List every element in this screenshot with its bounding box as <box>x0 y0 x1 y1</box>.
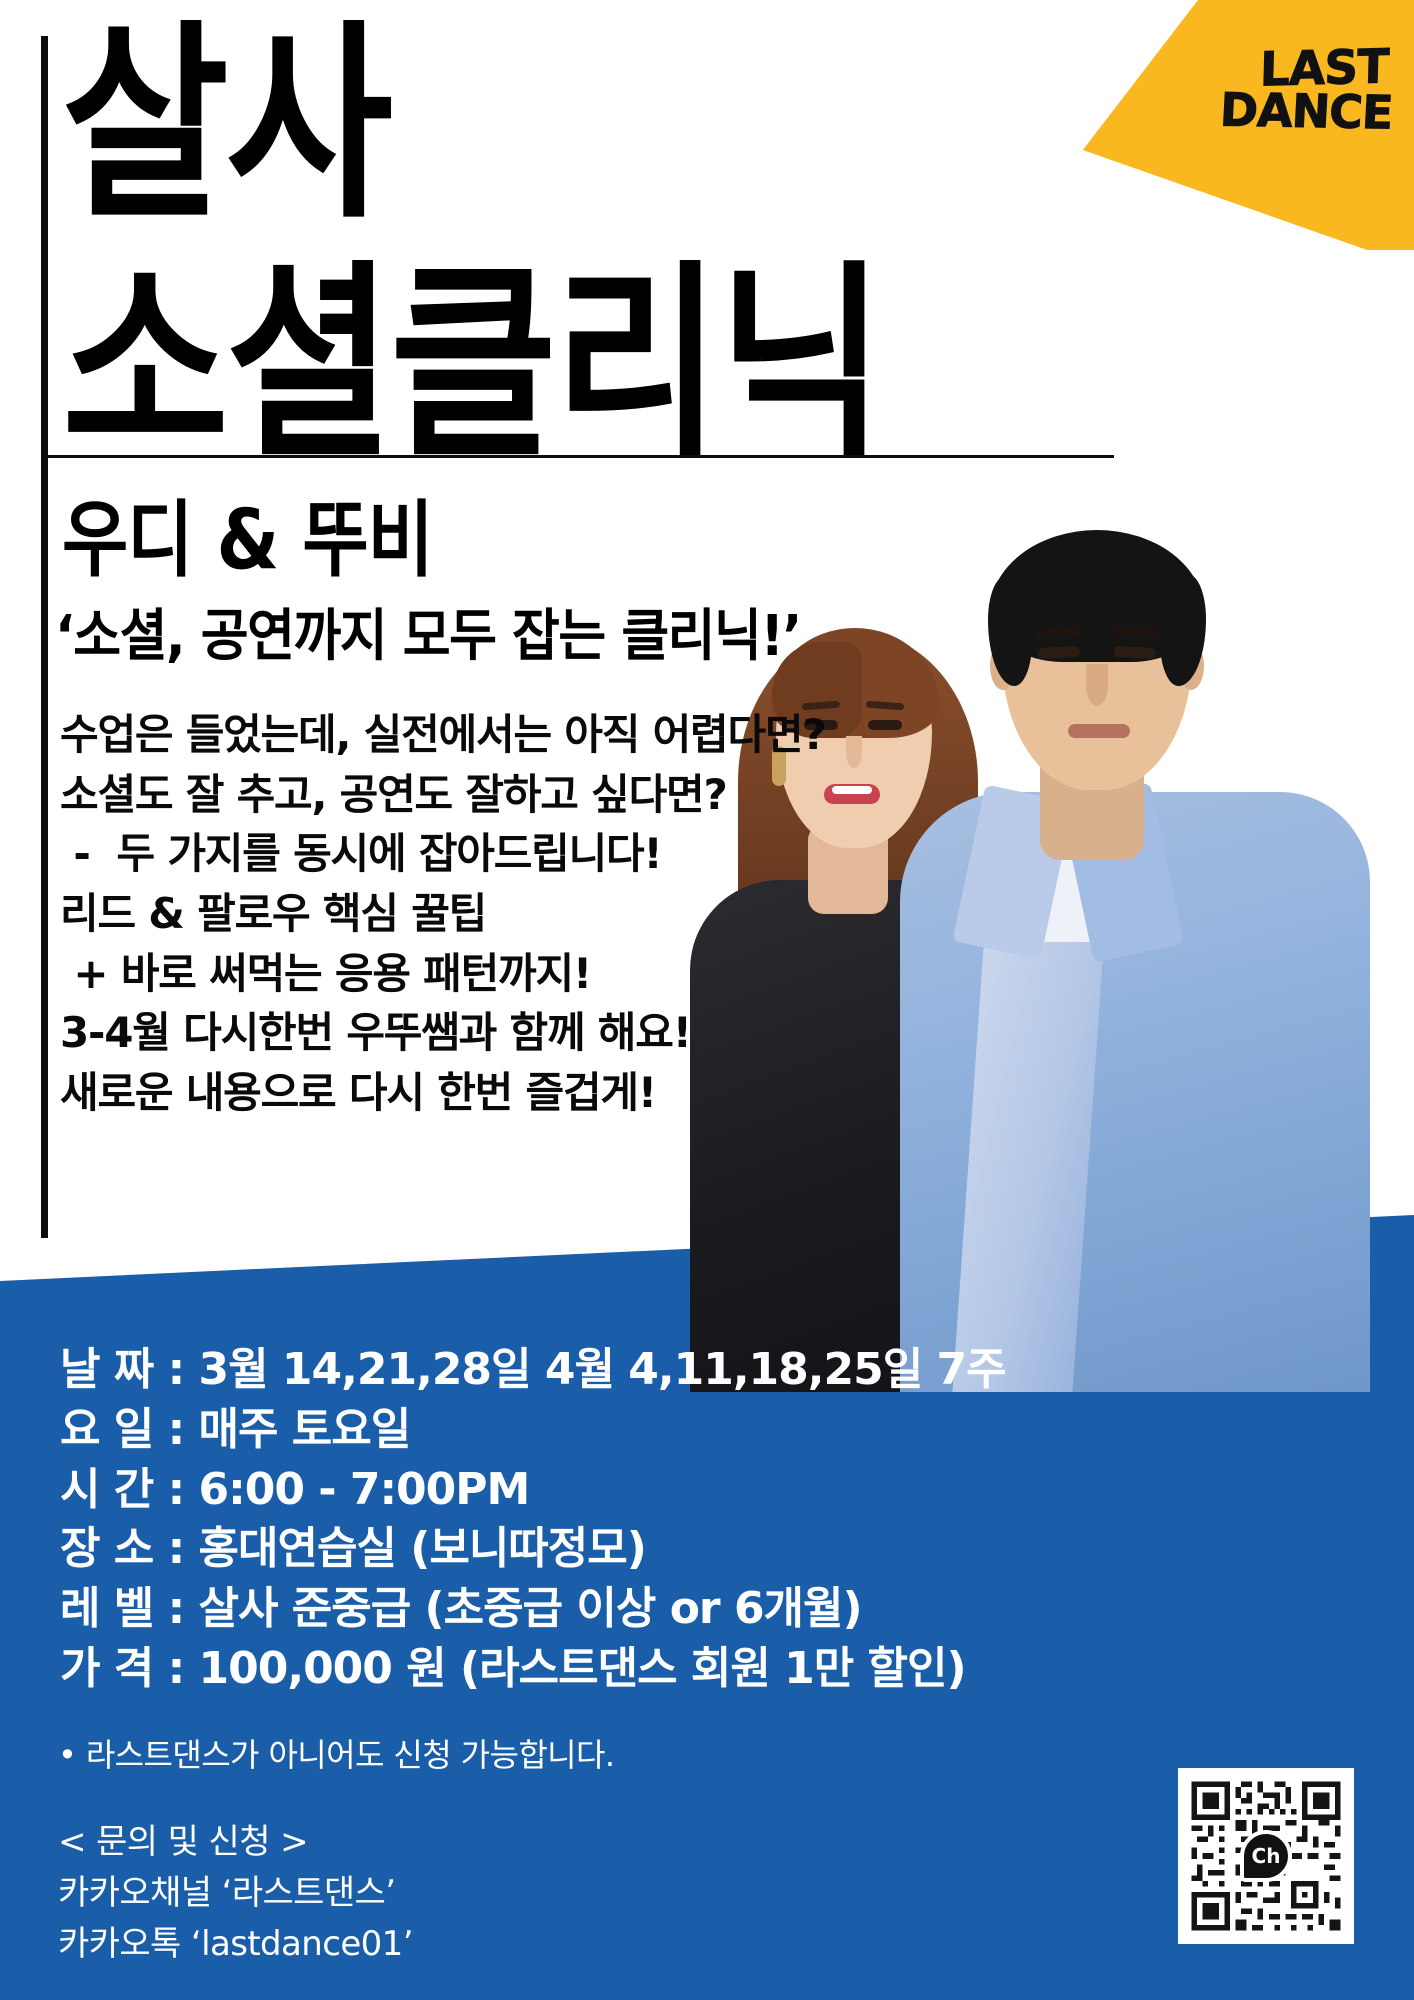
info-line-time: 시 간 : 6:00 - 7:00PM <box>60 1460 1060 1520</box>
info-line-date: 날 짜 : 3월 14,21,28일 4월 4,11,18,25일 7주 <box>60 1340 1060 1400</box>
body-line: 3-4월 다시한번 우뚜쌤과 함께 해요! <box>60 1003 890 1063</box>
membership-note: • 라스트댄스가 아니어도 신청 가능합니다. <box>58 1730 614 1776</box>
man-eye-right <box>1114 646 1157 659</box>
qr-code[interactable]: Ch <box>1178 1768 1354 1944</box>
body-line: + 바로 써먹는 응용 패턴까지! <box>60 944 890 1004</box>
kakao-channel-icon: Ch <box>1240 1830 1292 1882</box>
contact-block: < 문의 및 신청 > 카카오채널 ‘라스트댄스’ 카카오톡 ‘lastdanc… <box>58 1817 758 1970</box>
info-line-price: 가 격 : 100,000 원 (라스트댄스 회원 1만 할인) <box>60 1639 1060 1699</box>
tagline: ‘소셜, 공연까지 모두 잡는 클리닉!’ <box>55 590 801 671</box>
info-line-day: 요 일 : 매주 토요일 <box>60 1400 1060 1460</box>
instructor-names: 우디 & 뚜비 <box>62 472 433 593</box>
class-info-list: 날 짜 : 3월 14,21,28일 4월 4,11,18,25일 7주 요 일… <box>60 1340 1060 1699</box>
headline-line1: 살사 <box>62 20 1031 230</box>
body-line: 소셜도 잘 추고, 공연도 잘하고 싶다면? <box>60 765 890 825</box>
contact-heading: < 문의 및 신청 > <box>58 1817 758 1868</box>
contact-kakao-talk[interactable]: 카카오톡 ‘lastdance01’ <box>58 1919 758 1970</box>
body-line: 수업은 들었는데, 실전에서는 아직 어렵다면? <box>60 705 890 765</box>
man-mouth <box>1068 724 1130 738</box>
info-line-level: 레 벨 : 살사 준중급 (초중급 이상 or 6개월) <box>60 1579 1060 1639</box>
body-copy: 수업은 들었는데, 실전에서는 아직 어렵다면? 소셜도 잘 추고, 공연도 잘… <box>60 705 890 1122</box>
body-line: - 두 가지를 동시에 잡아드립니다! <box>60 824 890 884</box>
body-line: 새로운 내용으로 다시 한번 즐겁게! <box>60 1063 890 1123</box>
left-vertical-rule <box>41 36 48 1238</box>
info-line-place: 장 소 : 홍대연습실 (보니따정모) <box>60 1519 1060 1579</box>
man-nose <box>1086 664 1108 706</box>
headline-block: 살사 소셜클리닉 <box>62 10 1012 438</box>
man-eye-left <box>1038 646 1081 659</box>
headline-divider <box>48 455 1114 458</box>
brand-logo: LAST DANCE <box>1222 20 1392 160</box>
brand-logo-line2: DANCE <box>1218 89 1393 134</box>
contact-kakao-channel[interactable]: 카카오채널 ‘라스트댄스’ <box>58 1868 758 1919</box>
qr-canvas: Ch <box>1186 1776 1346 1936</box>
body-line: 리드 & 팔로우 핵심 꿀팁 <box>60 884 890 944</box>
poster-root: LAST DANCE 살사 소셜클리닉 우디 & 뚜비 ‘소셜, 공연까지 모두… <box>0 0 1414 2000</box>
headline-line2: 소셜클리닉 <box>62 260 1031 470</box>
